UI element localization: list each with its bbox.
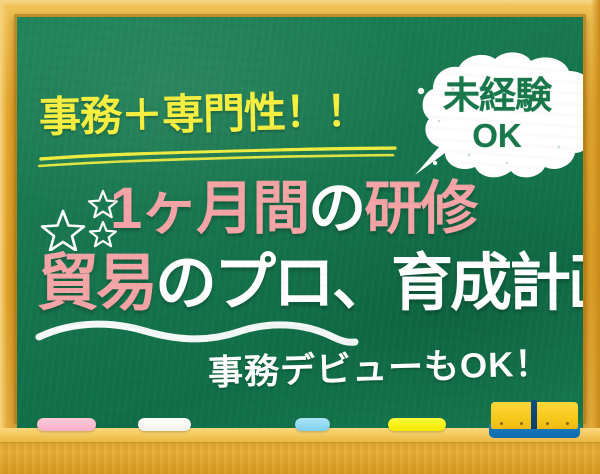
- eraser-split-stripe: [531, 400, 537, 429]
- lightblue-chalk: [295, 418, 330, 431]
- double-underline-chalk: [37, 145, 399, 169]
- speech-bubble-text: 未経験 OK: [399, 77, 583, 152]
- headline-main: 貿易のプロ、育成計画: [37, 253, 583, 315]
- speech-bubble-line2: OK: [399, 119, 583, 153]
- chalkboard-surface: 事務＋専門性！！ 1ヶ月間の研修 貿易のプロ、育成計画: [17, 17, 583, 431]
- subline-handwritten: 事務デビューもOK！: [208, 346, 551, 391]
- eraser-rivet: [520, 422, 523, 425]
- headline-yellow: 事務＋専門性！！: [39, 89, 420, 138]
- pink-chalk: [37, 418, 96, 431]
- chalkboard-poster: 事務＋専門性！！ 1ヶ月間の研修 貿易のプロ、育成計画: [0, 0, 600, 474]
- headline-training-no: の: [308, 176, 364, 241]
- yellow-chalk: [388, 418, 446, 431]
- headline-training-part1: 1ヶ月間: [110, 176, 308, 241]
- blackboard-eraser: [489, 400, 580, 438]
- frame-highlight-top: [0, 0, 600, 6]
- frame-highlight-left: [0, 0, 7, 474]
- frame-shadow-right: [591, 0, 600, 474]
- speech-bubble-line1: 未経験: [399, 77, 583, 115]
- white-chalk: [138, 418, 191, 431]
- eraser-rivet: [500, 422, 503, 425]
- chalk-tray-front: [0, 443, 600, 474]
- eraser-rivet: [566, 422, 569, 425]
- headline-main-rest: のプロ、育成計画: [155, 249, 583, 318]
- headline-main-trade: 貿易: [37, 249, 155, 318]
- speech-bubble: 未経験 OK: [399, 51, 583, 199]
- wavy-underline-chalk: [33, 315, 363, 351]
- eraser-rivet: [546, 422, 549, 425]
